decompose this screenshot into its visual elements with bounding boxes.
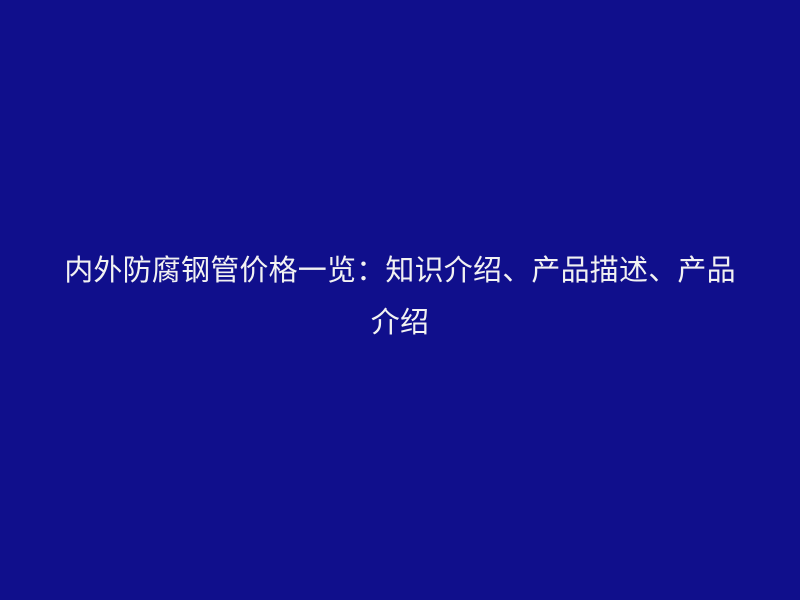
- title-slide: 内外防腐钢管价格一览：知识介绍、产品描述、产品介绍: [0, 0, 800, 600]
- title-block: 内外防腐钢管价格一览：知识介绍、产品描述、产品介绍: [50, 244, 750, 348]
- page-title: 内外防腐钢管价格一览：知识介绍、产品描述、产品介绍: [50, 244, 750, 348]
